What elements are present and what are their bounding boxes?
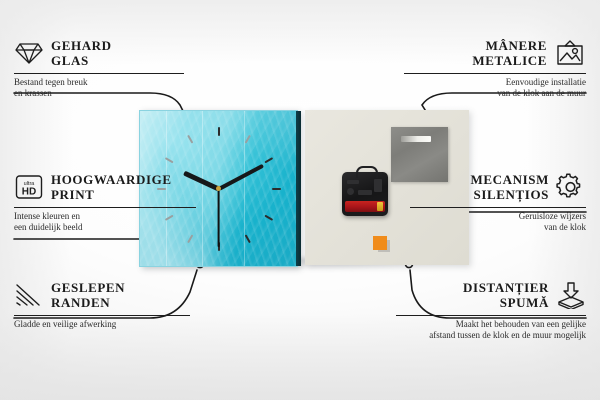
feature-title-line2: GLAS	[51, 53, 112, 68]
feature-heading: DISTANȚIER SPUMĂ	[396, 280, 586, 310]
feature-desc-line2: een duidelijk beeld	[14, 222, 196, 233]
feature-desc-line2: en krassen	[14, 88, 194, 99]
feature-heading: GESLEPEN RANDEN	[14, 280, 190, 310]
foam-spacer-pad	[373, 236, 387, 250]
feature-divider	[14, 315, 190, 316]
feature-title-line1: GEHARD	[51, 38, 112, 53]
feature-heading: MECANISM SILENȚIOS	[410, 172, 586, 202]
feature-desc-line1: Eenvoudige installatie	[404, 77, 586, 88]
feature-desc-line1: Intense kleuren en	[14, 211, 196, 222]
feature-desc-line2: van de klok	[410, 222, 586, 233]
feature-title-line2: SILENȚIOS	[471, 187, 549, 202]
feature-mecanism-silentios: MECANISM SILENȚIOS Geruisloze wijzers va…	[410, 172, 586, 233]
diamond-icon	[14, 40, 44, 66]
clock-second-hand	[218, 189, 220, 247]
feature-desc-line2: afstand tussen de klok en de muur mogeli…	[396, 330, 586, 341]
bevelled-edge-icon	[14, 282, 44, 308]
feature-divider	[410, 207, 586, 208]
feature-divider	[396, 315, 586, 316]
feature-title-line2: RANDEN	[51, 295, 125, 310]
glass-edge	[296, 111, 301, 266]
feature-geslepen-randen: GESLEPEN RANDEN Gladde en veilige afwerk…	[14, 280, 190, 330]
clock-center-pivot	[216, 186, 221, 191]
feature-hoogwaardige-print: ultra HD HOOGWAARDIGE PRINT Intense kleu…	[14, 172, 196, 233]
hd-label: HD	[22, 187, 36, 198]
feature-title-line1: DISTANȚIER	[463, 280, 549, 295]
quartz-mechanism-box	[342, 172, 388, 216]
feature-divider	[14, 73, 184, 74]
feature-desc-line1: Maakt het behouden van een gelijke	[396, 319, 586, 330]
feature-distantier-spuma: DISTANȚIER SPUMĂ Maakt het behouden van …	[396, 280, 586, 341]
feature-title-line1: MECANISM	[471, 172, 549, 187]
feature-desc-line1: Geruisloze wijzers	[410, 211, 586, 222]
mechanism-hanging-loop	[356, 166, 378, 178]
feature-heading: ultra HD HOOGWAARDIGE PRINT	[14, 172, 196, 202]
feature-title-line1: HOOGWAARDIGE	[51, 172, 172, 187]
feature-title-line1: MÂNERE	[472, 38, 547, 53]
feature-desc-line1: Gladde en veilige afwerking	[14, 319, 190, 330]
aa-battery	[345, 201, 385, 212]
ultra-hd-icon: ultra HD	[14, 173, 44, 201]
feature-heading: GEHARD GLAS	[14, 38, 194, 68]
gear-icon	[556, 173, 586, 201]
infographic-canvas: GEHARD GLAS Bestand tegen breuk en krass…	[0, 0, 600, 400]
feature-heading: MÂNERE METALICE	[404, 38, 586, 68]
feature-desc-line2: van de klok aan de muur	[404, 88, 586, 99]
feature-gehard-glas: GEHARD GLAS Bestand tegen breuk en krass…	[14, 38, 194, 99]
picture-hanger-icon	[554, 39, 586, 67]
feature-title-line2: METALICE	[472, 53, 547, 68]
feature-divider	[14, 207, 196, 208]
feature-title-line1: GESLEPEN	[51, 280, 125, 295]
feature-desc-line1: Bestand tegen breuk	[14, 77, 194, 88]
feature-title-line2: SPUMĂ	[463, 295, 549, 310]
feature-divider	[404, 73, 586, 74]
foam-spacer-icon	[556, 281, 586, 309]
feature-manere-metalice: MÂNERE METALICE Eenvoudige installatie v…	[404, 38, 586, 99]
feature-title-line2: PRINT	[51, 187, 172, 202]
